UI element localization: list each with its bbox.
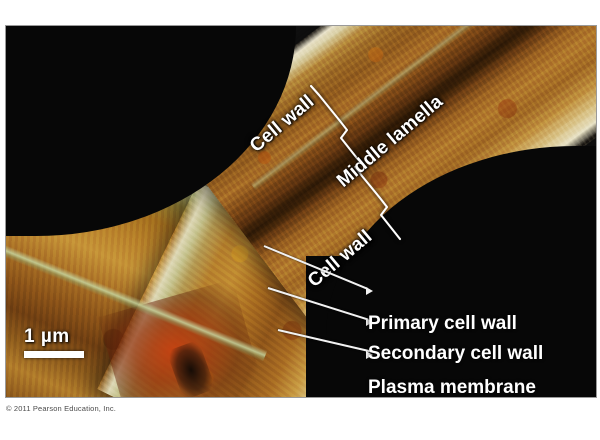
scale-bar-rule	[24, 351, 84, 358]
micrograph-panel: Cell wall Middle lamella Cell wall Prima…	[5, 25, 597, 398]
micrograph-image: Cell wall Middle lamella Cell wall Prima…	[6, 26, 596, 397]
label-plasma-membrane: Plasma membrane	[368, 377, 536, 397]
scale-bar-label: 1 µm	[24, 326, 84, 348]
figure-page: Cell wall Middle lamella Cell wall Prima…	[0, 0, 600, 440]
arrow-primary-cell-wall	[366, 287, 373, 295]
copyright-credit: © 2011 Pearson Education, Inc.	[6, 404, 116, 413]
label-primary-cell-wall: Primary cell wall	[368, 313, 517, 335]
scale-bar: 1 µm	[24, 326, 84, 358]
label-secondary-cell-wall: Secondary cell wall	[368, 343, 543, 365]
